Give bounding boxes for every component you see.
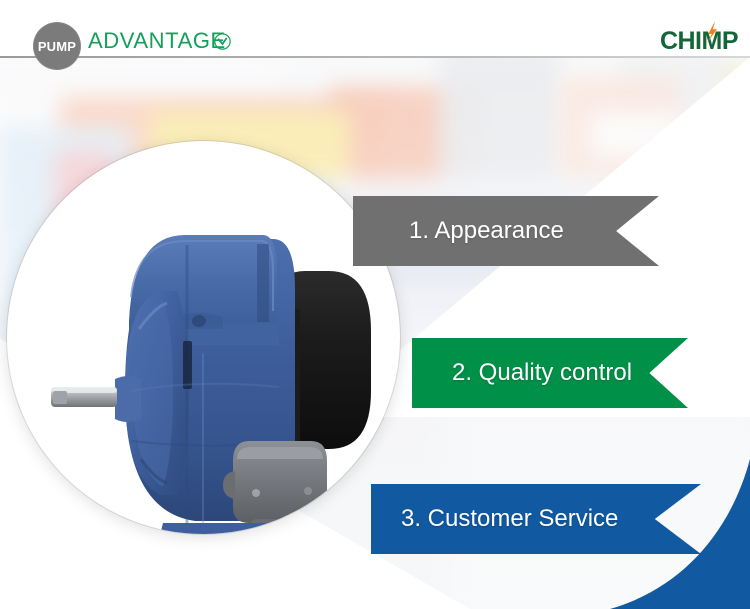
ribbon-quality-control[interactable]: 2. Quality control xyxy=(412,338,688,408)
brand-logo: CHIMP xyxy=(660,27,738,56)
circle-chevron-down-icon[interactable] xyxy=(214,33,231,50)
pump-badge-label: PUMP xyxy=(38,39,76,54)
electric-motor-image xyxy=(7,141,400,534)
product-photo-circle xyxy=(7,141,400,534)
page-title: ADVANTAGE xyxy=(88,28,226,54)
ribbon-quality-control-label: 2. Quality control xyxy=(412,359,632,387)
ribbon-customer-service[interactable]: 3. Customer Service xyxy=(371,484,701,554)
ribbon-customer-service-label: 3. Customer Service xyxy=(371,505,618,533)
lightning-bolt-icon xyxy=(705,21,718,43)
advantage-banner: 1. Appearance 2. Quality control 3. Cust… xyxy=(0,0,750,609)
header-divider xyxy=(0,56,750,58)
ribbon-appearance[interactable]: 1. Appearance xyxy=(353,196,659,266)
brand-logo-text: CHIMP xyxy=(660,27,738,55)
ribbon-appearance-label: 1. Appearance xyxy=(353,217,564,245)
pump-badge: PUMP xyxy=(33,22,81,70)
